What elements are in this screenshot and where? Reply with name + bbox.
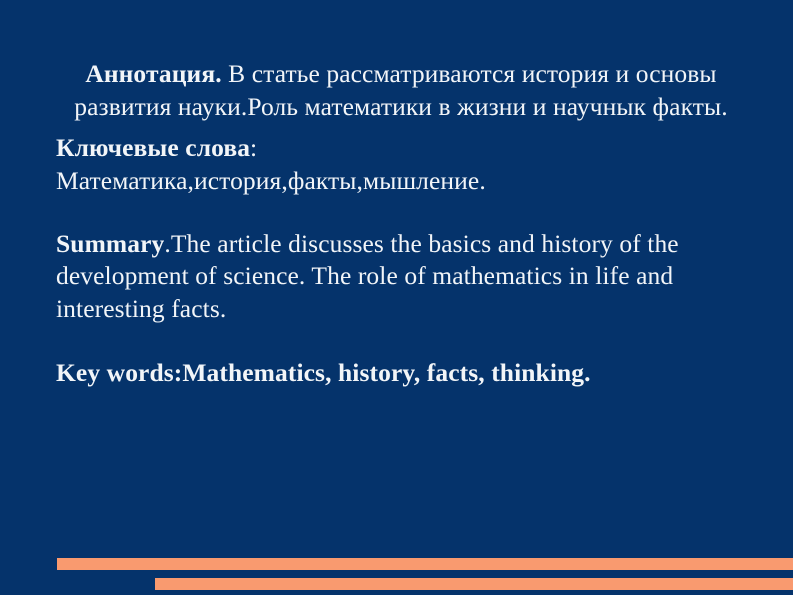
slide-canvas: Аннотация. В статье рассматриваются исто… [0, 0, 793, 595]
summary-label: Summary [56, 229, 164, 258]
spacer-before-keywords-en [56, 326, 746, 357]
abstract-label: Аннотация. [85, 59, 221, 88]
spacer-after-abstract [56, 124, 746, 130]
slide-content: Аннотация. В статье рассматриваются исто… [56, 58, 746, 390]
accent-bar-lower [155, 578, 793, 590]
keywords-ru-colon: : [250, 133, 257, 162]
keywords-ru-value: Математика,история,факты,мышление. [56, 165, 746, 198]
accent-bar-upper [57, 558, 793, 570]
summary-paragraph: Summary.The article discusses the basics… [56, 228, 746, 327]
keywords-ru-label: Ключевые слова [56, 133, 250, 162]
spacer-before-summary [56, 198, 746, 228]
keywords-ru-label-line: Ключевые слова: [56, 132, 746, 165]
keywords-en-line: Key words:Mathematics, history, facts, t… [56, 357, 746, 390]
abstract-paragraph: Аннотация. В статье рассматриваются исто… [56, 58, 746, 124]
